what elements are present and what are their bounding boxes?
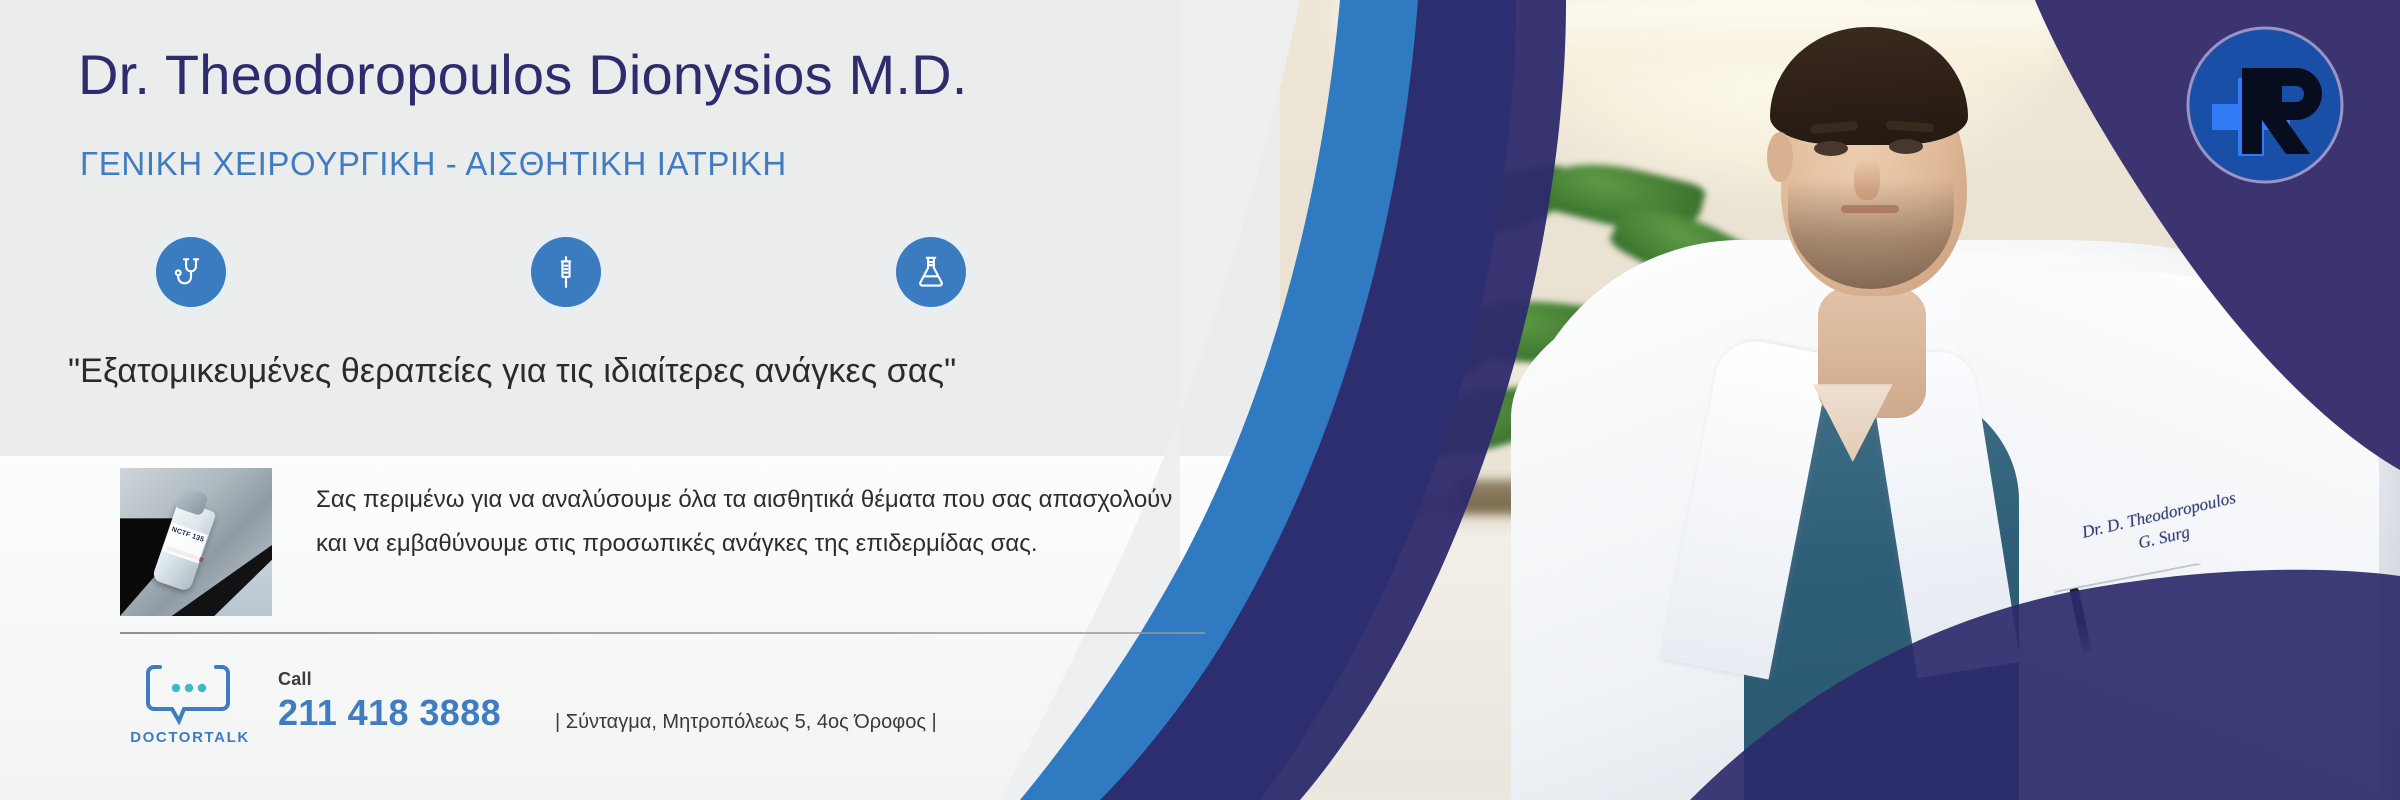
mouth <box>1841 205 1899 213</box>
speech-bubble-icon <box>146 663 230 725</box>
eye-left <box>1814 141 1848 156</box>
doctor-figure: Dr. D. Theodoropoulos G. Surg <box>1342 0 2400 800</box>
clinic-address: | Σύνταγμα, Μητροπόλεως 5, 4ος Όροφος | <box>555 711 937 734</box>
call-block[interactable]: Call 211 418 3888 <box>278 669 501 734</box>
contact-bar: DOCTORTALK Call 211 418 3888 | Σύνταγμα,… <box>0 655 1240 765</box>
call-label: Call <box>278 669 501 690</box>
intro-line-2: και να εμβαθύνουμε στις προσωπικές ανάγκ… <box>316 522 1216 566</box>
phone-number[interactable]: 211 418 3888 <box>278 692 501 734</box>
nose <box>1854 158 1880 200</box>
page-title: Dr. Theodoropoulos Dionysios M.D. <box>78 42 968 107</box>
stethoscope-icon[interactable] <box>156 237 226 307</box>
syringe-icon[interactable] <box>531 237 601 307</box>
tagline-quote: "Εξατομικευμένες θεραπείες για τις ιδιαί… <box>68 352 956 391</box>
hair <box>1770 27 1968 145</box>
doctortalk-logo[interactable]: DOCTORTALK <box>120 663 260 755</box>
section-divider <box>120 632 1205 634</box>
flask-icon[interactable] <box>896 237 966 307</box>
specialty-subtitle: ΓΕΝΙΚΗ ΧΕΙΡΟΥΡΓΙΚΗ - ΑΙΣΘΗΤΙΚΗ ΙΑΤΡΙΚΗ <box>80 145 787 183</box>
vial-thumbnail[interactable]: NCTF 135 <box>120 468 272 616</box>
service-icon-row <box>0 237 1240 323</box>
intro-text: Σας περιμένω για να αναλύσουμε όλα τα αι… <box>316 478 1216 567</box>
intro-line-1: Σας περιμένω για να αναλύσουμε όλα τα αι… <box>316 478 1216 522</box>
doctor-photo: Dr. D. Theodoropoulos G. Surg <box>1250 0 2400 800</box>
intro-block: NCTF 135 Σας περιμένω για να αναλύσουμε … <box>120 468 1210 618</box>
doctortalk-wordmark: DOCTORTALK <box>120 729 260 746</box>
clinic-banner: Dr. D. Theodoropoulos G. Surg Dr. Theodo… <box>0 0 2400 800</box>
